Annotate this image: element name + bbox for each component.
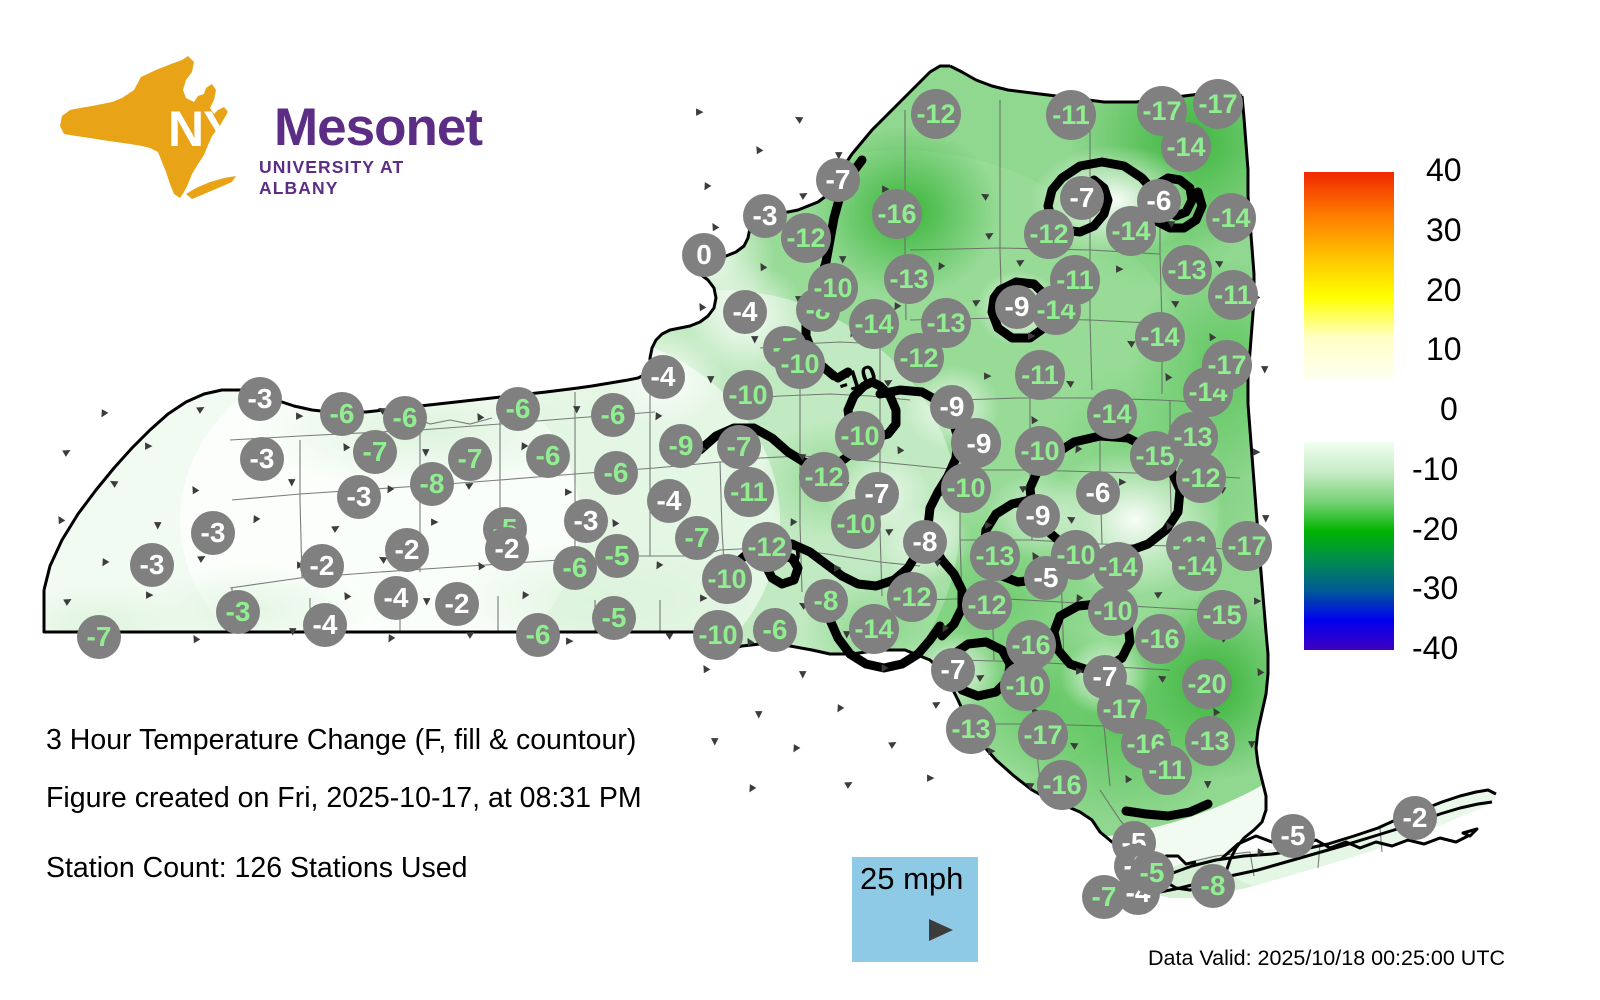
station-value: -12 <box>804 464 843 491</box>
station-value: -2 <box>1403 804 1428 832</box>
station-marker[interactable]: -3 <box>337 475 381 519</box>
station-value: -17 <box>1207 352 1246 379</box>
station-marker[interactable]: -13 <box>884 254 934 304</box>
colorbar-cool-segment <box>1304 442 1394 650</box>
station-marker[interactable]: -2 <box>485 527 529 571</box>
station-value: -13 <box>1190 728 1229 755</box>
station-marker[interactable]: -7 <box>1060 176 1104 220</box>
colorbar-tick-label: 20 <box>1426 272 1462 309</box>
station-value: -7 <box>363 438 388 466</box>
station-marker[interactable]: -16 <box>872 189 922 239</box>
station-marker[interactable]: -7 <box>448 437 492 481</box>
station-value: -3 <box>140 551 165 579</box>
station-value: -11 <box>1056 267 1094 294</box>
station-marker[interactable]: -6 <box>526 434 570 478</box>
colorbar-tick-label: -10 <box>1412 451 1458 488</box>
station-marker[interactable]: -5 <box>595 534 639 578</box>
wind-barb-icon: ▴ <box>289 625 297 640</box>
station-marker[interactable]: -6 <box>1076 471 1120 515</box>
station-marker[interactable]: -13 <box>1162 245 1212 295</box>
station-value: -7 <box>865 480 890 508</box>
station-marker[interactable]: -6 <box>383 396 427 440</box>
station-value: -7 <box>87 623 112 651</box>
station-marker[interactable]: -10 <box>775 339 825 389</box>
station-value: -12 <box>916 101 955 128</box>
station-value: -13 <box>975 543 1014 570</box>
wind-barb-icon: ▸ <box>984 368 992 383</box>
station-value: -6 <box>601 401 626 429</box>
station-marker[interactable]: -12 <box>1024 209 1074 259</box>
station-value: -10 <box>813 275 852 302</box>
station-marker[interactable]: -3 <box>238 377 282 421</box>
colorbar-labels: 403020100-10-20-30-40 <box>1412 172 1522 650</box>
station-marker[interactable]: -10 <box>723 370 773 420</box>
station-marker[interactable]: -3 <box>191 511 235 555</box>
station-value: -14 <box>1166 134 1205 161</box>
station-value: -12 <box>1181 465 1220 492</box>
station-marker[interactable]: -7 <box>1082 875 1126 919</box>
station-value: -13 <box>926 310 965 337</box>
station-marker[interactable]: 0 <box>682 233 726 277</box>
station-value: -3 <box>226 598 251 626</box>
station-marker[interactable]: -7 <box>353 430 397 474</box>
wind-barb-icon: ▴ <box>799 668 807 683</box>
station-value: -16 <box>1011 632 1050 659</box>
station-value: -5 <box>605 542 630 570</box>
wind-barb-icon: ▸ <box>696 104 704 119</box>
station-marker[interactable]: -17 <box>1222 521 1272 571</box>
station-value: -11 <box>1214 282 1252 309</box>
station-marker[interactable]: -3 <box>564 499 608 543</box>
station-marker[interactable]: -4 <box>723 290 767 334</box>
station-value: -10 <box>1056 542 1095 569</box>
station-value: -17 <box>1227 533 1266 560</box>
station-value: -17 <box>1198 91 1237 118</box>
station-marker[interactable]: -6 <box>591 393 635 437</box>
station-marker[interactable]: -10 <box>1088 586 1138 636</box>
station-value: -14 <box>1111 218 1150 245</box>
station-marker[interactable]: -3 <box>240 437 284 481</box>
station-marker[interactable]: -7 <box>855 472 899 516</box>
station-marker[interactable]: -6 <box>553 546 597 590</box>
station-marker[interactable]: -17 <box>1193 79 1243 129</box>
station-value: -13 <box>1173 424 1212 451</box>
station-marker[interactable]: -14 <box>1135 312 1185 362</box>
station-marker[interactable]: -3 <box>130 543 174 587</box>
station-value: -10 <box>780 351 819 378</box>
wind-barb-icon: ▴ <box>423 595 431 610</box>
station-marker[interactable]: -9 <box>957 422 1001 466</box>
wind-barb-icon: ▴ <box>1204 778 1212 793</box>
wind-arrow-icon <box>877 913 955 947</box>
station-value: -11 <box>1021 362 1059 389</box>
station-marker[interactable]: -5 <box>1271 814 1315 858</box>
station-value: -11 <box>730 479 768 506</box>
station-marker[interactable]: -20 <box>1182 659 1232 709</box>
station-value: -14 <box>854 616 893 643</box>
station-value: -12 <box>892 584 931 611</box>
station-value: -17 <box>1023 722 1062 749</box>
station-value: -10 <box>840 423 879 450</box>
station-value: -3 <box>753 202 778 230</box>
station-marker[interactable]: -9 <box>1016 494 1060 538</box>
wind-barb-icon: ▸ <box>296 408 304 423</box>
station-marker[interactable]: -11 <box>1050 255 1100 305</box>
station-value: -15 <box>1135 443 1174 470</box>
station-marker[interactable]: -8 <box>1191 864 1235 908</box>
wind-barb-icon: ▸ <box>431 514 439 529</box>
station-value: -6 <box>393 404 418 432</box>
station-value: -7 <box>1092 883 1117 911</box>
station-value: -6 <box>330 400 355 428</box>
station-value: -14 <box>1092 401 1131 428</box>
station-marker[interactable]: -7 <box>931 648 975 692</box>
station-value: -6 <box>763 616 788 644</box>
colorbar-tick-label: -40 <box>1412 630 1458 667</box>
station-value: -7 <box>458 445 483 473</box>
station-marker[interactable]: -16 <box>1006 620 1056 670</box>
colorbar <box>1304 172 1394 650</box>
station-value: -13 <box>951 716 990 743</box>
station-value: -7 <box>685 524 710 552</box>
station-value: -13 <box>889 266 928 293</box>
wind-barb-icon: ▸ <box>927 770 935 785</box>
station-value: -2 <box>495 535 520 563</box>
data-valid-text: Data Valid: 2025/10/18 00:25:00 UTC <box>1148 946 1505 971</box>
station-marker[interactable]: -15 <box>1197 590 1247 640</box>
station-value: -7 <box>1070 184 1095 212</box>
station-value: -10 <box>1093 598 1132 625</box>
station-marker[interactable]: -17 <box>1202 340 1252 390</box>
station-value: -4 <box>313 611 338 639</box>
wind-barb-icon: ▸ <box>1254 593 1262 608</box>
station-marker[interactable]: -4 <box>303 603 347 647</box>
wind-barb-icon: ▴ <box>1262 512 1270 527</box>
station-value: -7 <box>826 166 851 194</box>
station-value: -14 <box>1098 554 1137 581</box>
wind-speed-key: 25 mph <box>852 857 978 962</box>
station-marker[interactable]: -2 <box>385 528 429 572</box>
station-value: -10 <box>1020 438 1059 465</box>
colorbar-tick-label: 10 <box>1426 331 1462 368</box>
wind-barb-icon: ▴ <box>1261 363 1269 378</box>
station-marker[interactable]: -6 <box>496 387 540 431</box>
station-value: -9 <box>1026 502 1051 530</box>
station-marker[interactable]: -7 <box>77 615 121 659</box>
station-marker[interactable]: -10 <box>693 610 743 660</box>
station-value: -5 <box>1281 822 1306 850</box>
station-value: -2 <box>310 552 335 580</box>
station-value: -9 <box>940 393 965 421</box>
station-marker[interactable]: -12 <box>742 522 792 572</box>
wind-barb-icon: ▸ <box>1028 328 1036 343</box>
station-marker[interactable]: -10 <box>1015 426 1065 476</box>
station-marker[interactable]: -16 <box>1135 614 1185 664</box>
station-marker[interactable]: -8 <box>903 520 947 564</box>
station-value: -4 <box>657 487 682 515</box>
station-value: -16 <box>1042 772 1081 799</box>
station-value: -5 <box>1140 859 1165 887</box>
station-marker[interactable]: -4 <box>647 479 691 523</box>
station-value: -8 <box>420 470 445 498</box>
station-value: -15 <box>1202 602 1241 629</box>
station-count-text: Station Count: 126 Stations Used <box>46 852 467 885</box>
wind-barb-icon: ▸ <box>565 484 573 499</box>
station-marker[interactable]: -14 <box>1087 389 1137 439</box>
station-value: -2 <box>395 536 420 564</box>
station-value: -8 <box>814 587 839 615</box>
wind-barb-icon: ▴ <box>755 708 763 723</box>
station-value: -10 <box>707 566 746 593</box>
station-value: -3 <box>574 507 599 535</box>
map-title: 3 Hour Temperature Change (F, fill & cou… <box>46 724 636 757</box>
station-value: -16 <box>1140 626 1179 653</box>
station-marker[interactable]: -12 <box>1176 453 1226 503</box>
station-value: -4 <box>733 298 758 326</box>
station-value: -9 <box>967 430 992 458</box>
station-marker[interactable]: -11 <box>1015 350 1065 400</box>
wind-barb-icon: ▴ <box>573 403 581 418</box>
station-value: -8 <box>1201 872 1226 900</box>
station-marker[interactable]: -11 <box>1208 270 1258 320</box>
station-value: -6 <box>526 621 551 649</box>
station-marker[interactable]: -10 <box>808 263 858 313</box>
station-marker[interactable]: -6 <box>594 451 638 495</box>
wind-barb-icon: ▴ <box>288 476 296 491</box>
station-marker[interactable]: -13 <box>946 704 996 754</box>
station-value: -4 <box>384 584 409 612</box>
colorbar-tick-label: 0 <box>1440 391 1458 428</box>
colorbar-warm-segment <box>1304 172 1394 380</box>
station-value: -3 <box>248 385 273 413</box>
station-marker[interactable]: -7 <box>816 158 860 202</box>
station-marker[interactable]: -10 <box>702 554 752 604</box>
station-marker[interactable]: -10 <box>941 463 991 513</box>
station-marker[interactable]: -12 <box>911 89 961 139</box>
wind-key-label: 25 mph <box>860 861 963 897</box>
station-value: 0 <box>696 241 712 269</box>
wind-barb-icon: ▸ <box>146 587 154 602</box>
station-marker[interactable]: -13 <box>1185 716 1235 766</box>
station-marker[interactable]: -6 <box>1137 179 1181 223</box>
station-marker[interactable]: -2 <box>300 544 344 588</box>
colorbar-tick-label: 40 <box>1426 152 1462 189</box>
station-marker[interactable]: -12 <box>962 580 1012 630</box>
wind-barb-icon: ▸ <box>1119 474 1127 489</box>
station-marker[interactable]: -6 <box>516 613 560 657</box>
station-value: -17 <box>1142 98 1181 125</box>
wind-barb-icon: ▸ <box>834 560 842 575</box>
station-marker[interactable]: -7 <box>675 516 719 560</box>
station-value: -6 <box>604 459 629 487</box>
colorbar-tick-label: -30 <box>1412 570 1458 607</box>
colorbar-tick-label: 30 <box>1426 212 1462 249</box>
wind-barb-icon: ▴ <box>707 373 715 388</box>
station-marker[interactable]: -17 <box>1018 710 1068 760</box>
station-value: -4 <box>651 363 676 391</box>
station-marker[interactable]: -13 <box>921 298 971 348</box>
station-value: -20 <box>1187 671 1226 698</box>
station-value: -10 <box>1005 673 1044 700</box>
station-value: -2 <box>445 590 470 618</box>
station-marker[interactable]: -14 <box>1093 542 1143 592</box>
station-value: -14 <box>1177 553 1216 580</box>
station-marker[interactable]: -14 <box>849 299 899 349</box>
station-marker[interactable]: -5 <box>592 596 636 640</box>
wind-barb-icon: ▴ <box>1248 738 1256 753</box>
wind-barb-icon: ▸ <box>145 438 153 453</box>
station-value: -6 <box>1086 479 1111 507</box>
colorbar-tick-label: -20 <box>1412 511 1458 548</box>
station-value: -6 <box>563 554 588 582</box>
station-value: -3 <box>250 445 275 473</box>
station-value: -5 <box>602 604 627 632</box>
station-marker[interactable]: -16 <box>1037 760 1087 810</box>
station-marker[interactable]: -12 <box>799 452 849 502</box>
station-value: -14 <box>1211 205 1250 232</box>
figure-created-text: Figure created on Fri, 2025-10-17, at 08… <box>46 782 642 815</box>
wind-barb-icon: ▴ <box>154 519 162 534</box>
station-value: -8 <box>913 528 938 556</box>
wind-barb-icon: ▴ <box>711 735 719 750</box>
station-marker[interactable]: -11 <box>1142 745 1192 795</box>
station-value: -3 <box>347 483 372 511</box>
station-value: -7 <box>941 656 966 684</box>
station-value: -12 <box>1029 221 1068 248</box>
station-marker[interactable]: -2 <box>435 582 479 626</box>
station-value: -14 <box>854 311 893 338</box>
station-marker[interactable]: -6 <box>320 392 364 436</box>
wind-barb-icon: ▴ <box>751 333 759 348</box>
station-value: -13 <box>1167 257 1206 284</box>
station-value: -12 <box>899 345 938 372</box>
wind-barb-icon: ▸ <box>1116 261 1124 276</box>
wind-barb-icon: ▸ <box>985 517 993 532</box>
station-marker[interactable]: -3 <box>743 194 787 238</box>
station-marker[interactable]: -4 <box>374 576 418 620</box>
station-marker[interactable]: -6 <box>753 608 797 652</box>
station-marker[interactable]: -12 <box>887 572 937 622</box>
station-marker[interactable]: -8 <box>410 462 454 506</box>
station-marker[interactable]: -8 <box>804 579 848 623</box>
station-value: -9 <box>1005 293 1030 321</box>
station-marker[interactable]: -13 <box>970 531 1020 581</box>
station-value: -12 <box>786 225 825 252</box>
station-marker[interactable]: -5 <box>1130 851 1174 895</box>
station-value: -6 <box>1147 187 1172 215</box>
station-value: -17 <box>1102 696 1141 723</box>
station-value: -10 <box>698 622 737 649</box>
station-marker[interactable]: -12 <box>781 213 831 263</box>
wind-barb-icon: ▸ <box>566 633 574 648</box>
station-value: -9 <box>669 432 694 460</box>
station-marker[interactable]: -9 <box>659 424 703 468</box>
station-value: -16 <box>877 201 916 228</box>
station-value: -6 <box>536 442 561 470</box>
station-value: -12 <box>747 534 786 561</box>
station-marker[interactable]: -4 <box>641 355 685 399</box>
station-value: -7 <box>727 433 752 461</box>
station-value: -12 <box>967 592 1006 619</box>
station-value: -14 <box>1140 324 1179 351</box>
station-value: -10 <box>728 382 767 409</box>
station-marker[interactable]: -11 <box>1046 90 1096 140</box>
station-marker[interactable]: -2 <box>1393 796 1437 840</box>
station-value: -11 <box>1052 102 1090 129</box>
station-marker[interactable]: -14 <box>1206 193 1256 243</box>
station-value: -3 <box>201 519 226 547</box>
station-value: -6 <box>506 395 531 423</box>
station-value: -10 <box>946 475 985 502</box>
station-marker[interactable]: -10 <box>835 411 885 461</box>
station-value: -11 <box>1148 757 1186 784</box>
wind-barb-icon: ▴ <box>422 446 430 461</box>
station-marker[interactable]: -7 <box>717 425 761 469</box>
station-marker[interactable]: -11 <box>724 467 774 517</box>
station-marker[interactable]: -3 <box>216 590 260 634</box>
station-marker[interactable]: -14 <box>1161 122 1211 172</box>
wind-barb-icon: ▸ <box>1253 444 1261 459</box>
station-marker[interactable]: -14 <box>1172 541 1222 591</box>
